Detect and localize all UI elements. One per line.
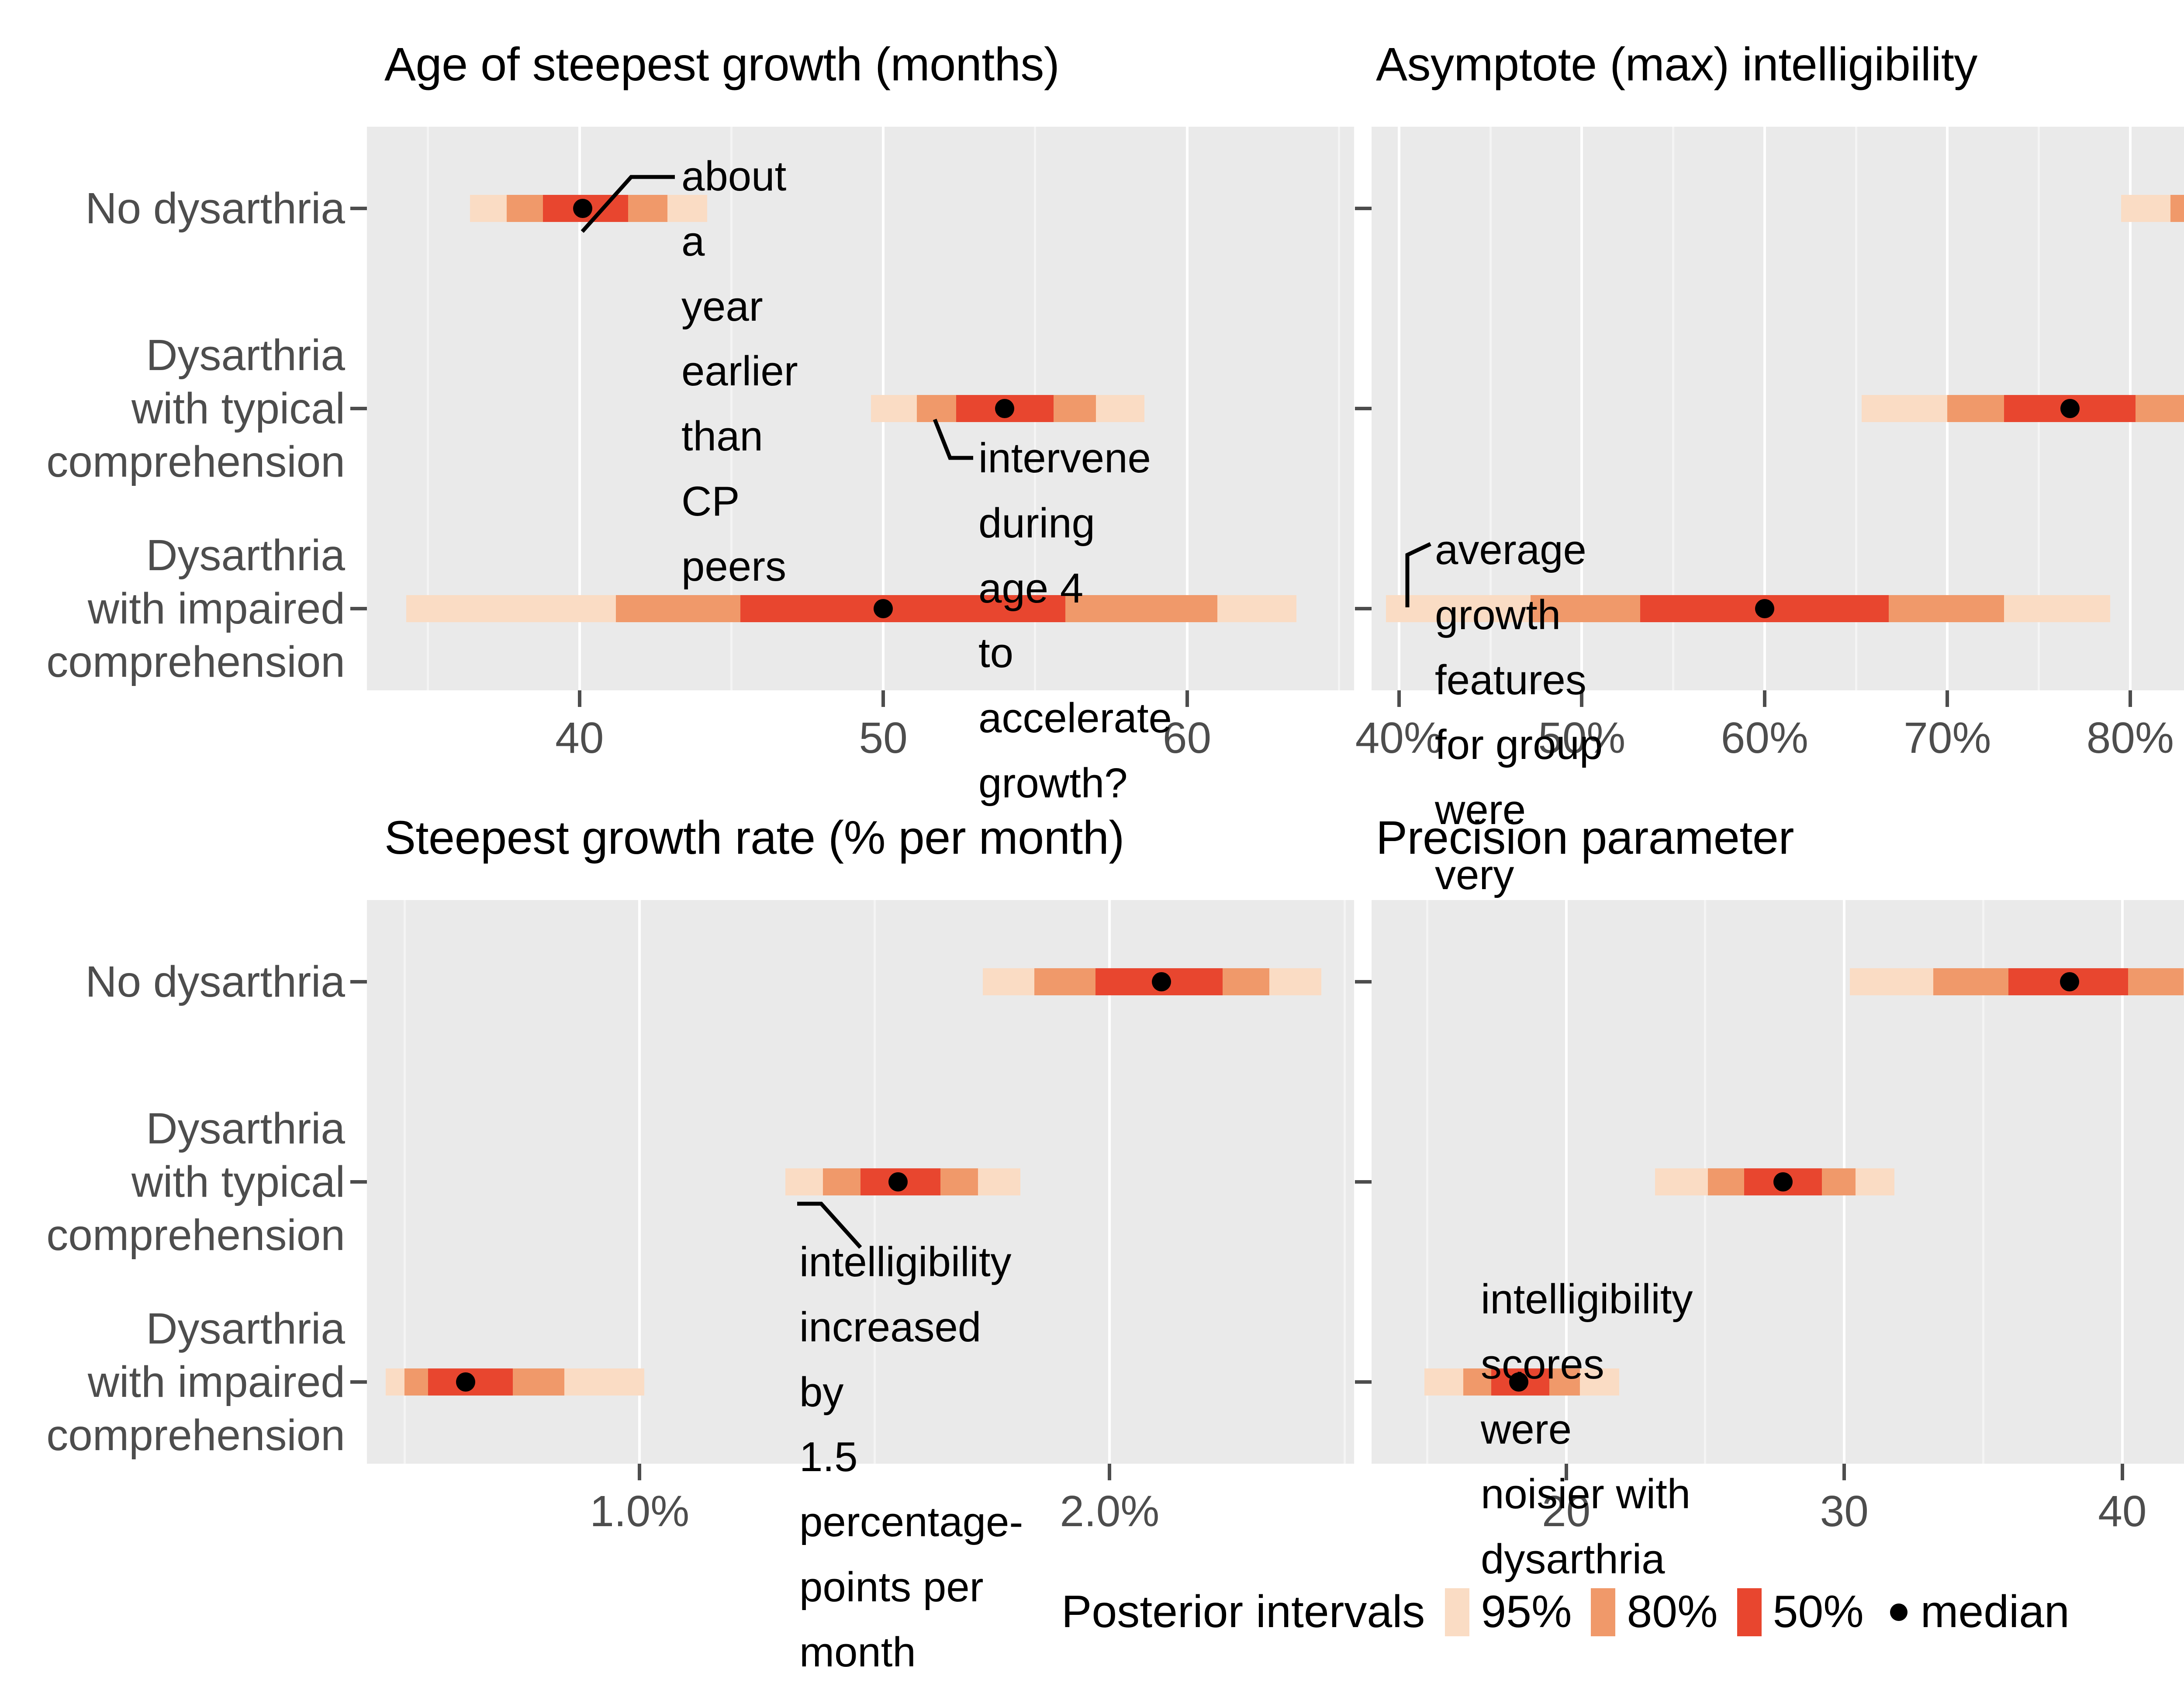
- x-axis-label: 60%: [1721, 713, 1808, 763]
- gridline-minor: [1338, 127, 1340, 690]
- legend-label-95: 95%: [1481, 1586, 1572, 1638]
- x-axis-tick: [1946, 690, 1949, 707]
- legend: Posterior intervals 95% 80% 50% median: [1061, 1586, 2089, 1638]
- x-axis-tick: [638, 1464, 641, 1480]
- legend-item-median[interactable]: median: [1883, 1586, 2070, 1638]
- panel-rate-title: Steepest growth rate (% per month): [384, 813, 1124, 862]
- x-axis-label: 1.0%: [590, 1486, 689, 1537]
- annotation-year-earlier-leader-line: [579, 173, 682, 239]
- y-axis-tick: [1355, 980, 1372, 984]
- gridline-minor: [1344, 900, 1346, 1464]
- panel-age-plot-area: [367, 127, 1354, 690]
- x-axis-label: 70%: [1904, 713, 1991, 763]
- y-axis-tick: [1355, 1180, 1372, 1184]
- legend-label-80: 80%: [1627, 1586, 1717, 1638]
- legend-label-50: 50%: [1773, 1586, 1864, 1638]
- x-axis-tick: [1108, 1464, 1111, 1480]
- legend-swatch-95-icon: [1445, 1588, 1469, 1636]
- median-dot: [995, 399, 1014, 418]
- y-axis-tick: [1355, 407, 1372, 410]
- legend-item-95[interactable]: 95%: [1445, 1586, 1572, 1638]
- y-axis-tick: [350, 207, 367, 210]
- annotation-1-5-points-leader-line: [794, 1200, 867, 1254]
- x-axis-label: 40: [555, 713, 604, 763]
- annotation-noisier: intelligibility scores were noisier with…: [1481, 1267, 1693, 1592]
- y-axis-tick: [350, 407, 367, 410]
- y-axis-tick: [1355, 1380, 1372, 1384]
- panel-age-title: Age of steepest growth (months): [384, 39, 1059, 89]
- x-axis-label: 2.0%: [1060, 1486, 1159, 1537]
- legend-item-50[interactable]: 50%: [1737, 1586, 1864, 1638]
- median-dot: [1152, 972, 1171, 991]
- y-axis-tick: [350, 1180, 367, 1184]
- median-dot: [456, 1372, 475, 1392]
- median-dot: [1773, 1172, 1793, 1191]
- annotation-year-earlier: about a year earlier than CP peers: [681, 144, 798, 599]
- y-axis-category-label: Dysarthria with impaired comprehension: [0, 1302, 345, 1462]
- x-axis-label: 40%: [1355, 713, 1443, 763]
- annotation-intervene-age-4: intervene during age 4 to accelerate gro…: [978, 426, 1172, 816]
- legend-title: Posterior intervals: [1061, 1586, 1425, 1638]
- y-axis-tick: [350, 1380, 367, 1384]
- y-axis-tick: [350, 980, 367, 984]
- annotation-1-5-points: intelligibility increased by 1.5 percent…: [799, 1230, 1023, 1685]
- median-dot: [888, 1172, 908, 1191]
- x-axis-tick: [1763, 690, 1766, 707]
- legend-swatch-80-icon: [1591, 1588, 1615, 1636]
- x-axis-tick: [2121, 1464, 2124, 1480]
- x-axis-tick: [1397, 690, 1401, 707]
- y-axis-tick: [1355, 207, 1372, 210]
- interval-band-80: [2170, 195, 2184, 222]
- legend-median-dot-icon: [1890, 1604, 1908, 1621]
- panel-asymptote-title: Asymptote (max) intelligibility: [1376, 39, 1977, 89]
- x-axis-label: 80%: [2087, 713, 2174, 763]
- y-axis-category-label: No dysarthria: [0, 182, 345, 235]
- panel-precision-title: Precision parameter: [1376, 813, 1794, 862]
- legend-swatch-50-icon: [1737, 1588, 1762, 1636]
- figure-root: Age of steepest growth (months) 405060 a…: [0, 0, 2184, 1704]
- y-axis-category-label: No dysarthria: [0, 955, 345, 1008]
- x-axis-label: 40: [2098, 1486, 2146, 1537]
- median-dot: [2060, 399, 2080, 418]
- x-axis-tick: [578, 690, 581, 707]
- x-axis-label: 50: [859, 713, 908, 763]
- x-axis-label: 30: [1820, 1486, 1869, 1537]
- legend-item-80[interactable]: 80%: [1591, 1586, 1717, 1638]
- x-axis-tick: [1185, 690, 1189, 707]
- y-axis-category-label: Dysarthria with impaired comprehension: [0, 529, 345, 689]
- y-axis-tick: [350, 607, 367, 610]
- median-dot: [874, 599, 893, 618]
- median-dot: [2060, 972, 2079, 991]
- legend-label-median: median: [1921, 1586, 2070, 1638]
- y-axis-tick: [1355, 607, 1372, 610]
- x-axis-tick: [2129, 690, 2132, 707]
- x-axis-tick: [1842, 1464, 1846, 1480]
- y-axis-category-label: Dysarthria with typical comprehension: [0, 329, 345, 488]
- annotation-intervene-age-4-leader-line: [931, 416, 980, 465]
- x-axis-tick: [881, 690, 885, 707]
- y-axis-category-label: Dysarthria with typical comprehension: [0, 1102, 345, 1262]
- annotation-very-uncertain-leader-line: [1404, 540, 1438, 614]
- median-dot: [1755, 599, 1774, 618]
